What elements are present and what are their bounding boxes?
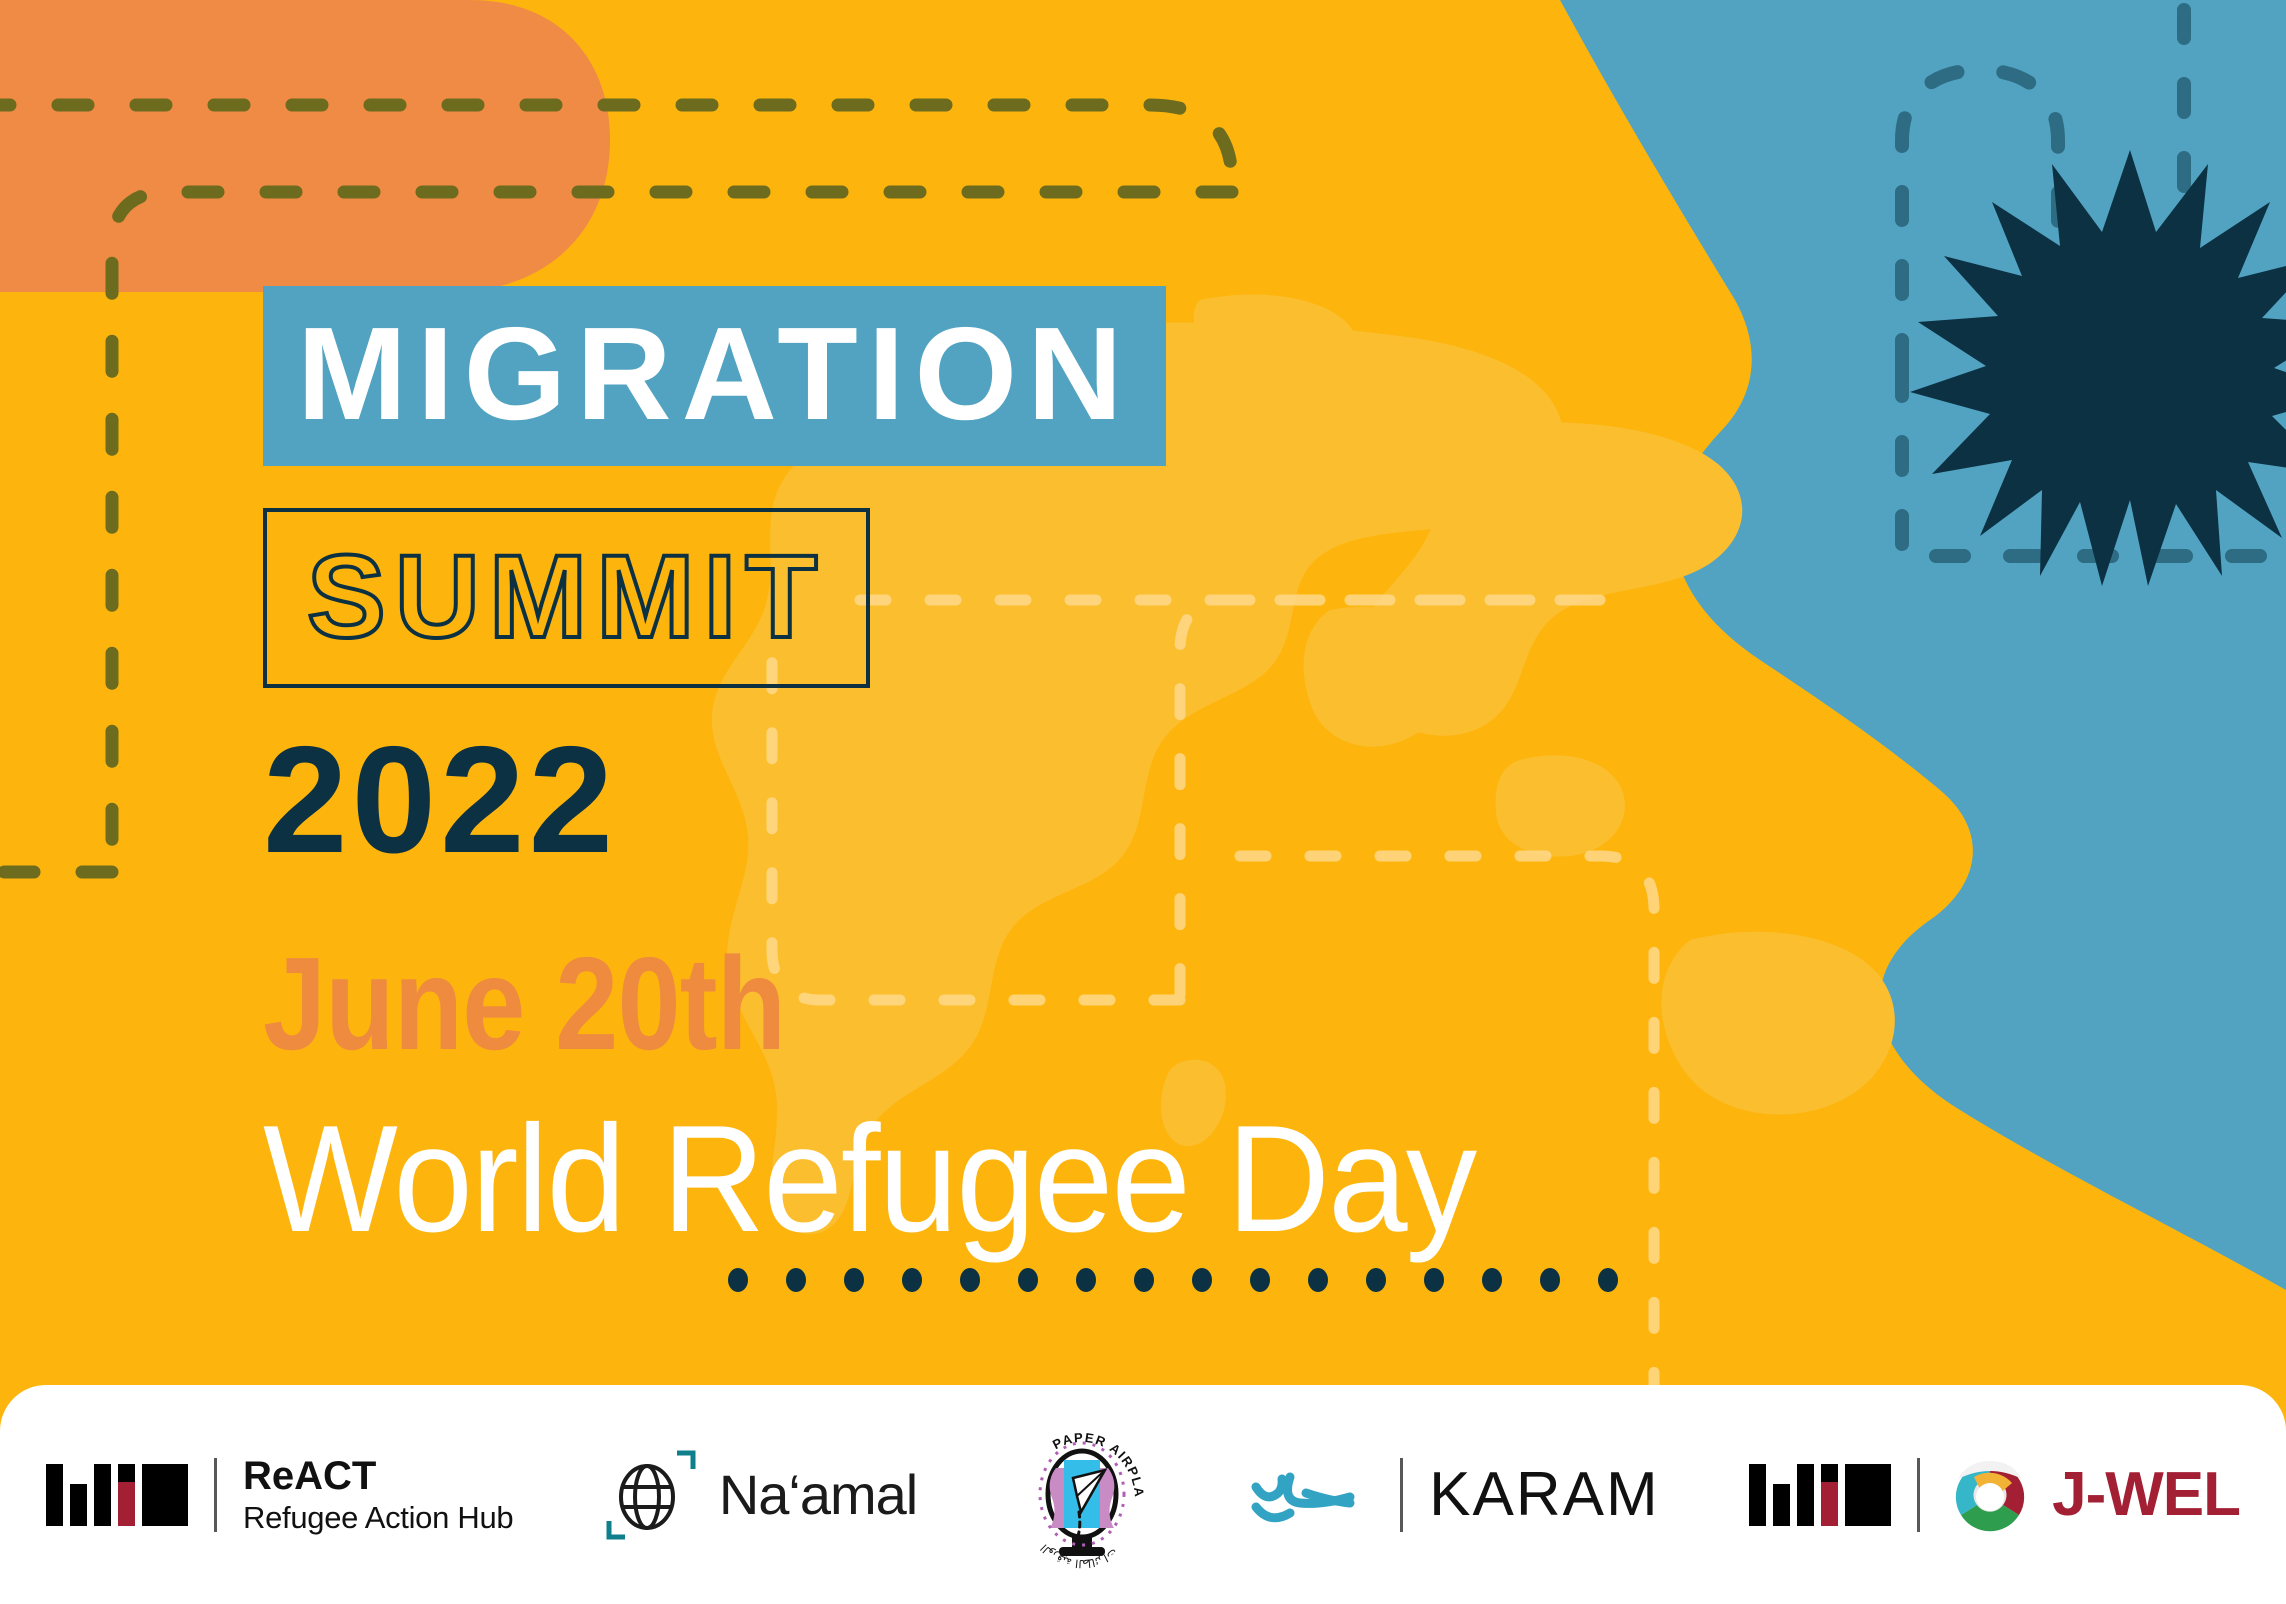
sponsor-logo-row: ReACT Refugee Action Hub (0, 1420, 2286, 1570)
rule-dot (1018, 1268, 1038, 1292)
rule-dot (1540, 1268, 1560, 1292)
rule-dot (1134, 1268, 1154, 1292)
jwel-ring-icon (1946, 1451, 2034, 1539)
logo-paper-airplanes[interactable]: PAPER AIRPLANES الورقية الطائرات (1007, 1420, 1157, 1570)
rule-dot (1482, 1268, 1502, 1292)
logo-divider (214, 1458, 217, 1532)
logo-react-name: ReACT (243, 1454, 513, 1498)
headline-line-summit: SUMMIT (307, 538, 826, 656)
dot-rule (728, 1268, 1618, 1292)
karam-arabic-icon (1246, 1463, 1374, 1527)
logo-divider (1400, 1458, 1403, 1532)
rule-dot (1250, 1268, 1270, 1292)
rule-dot (786, 1268, 806, 1292)
headline-line-migration: MIGRATION (297, 308, 1132, 440)
teal-region (1560, 0, 2286, 1290)
logo-naamal[interactable]: Na‘amal (603, 1447, 917, 1543)
rule-dot (728, 1268, 748, 1292)
orange-blob-topleft (0, 0, 610, 292)
logo-divider (1917, 1458, 1920, 1532)
paper-airplanes-globe-icon: PAPER AIRPLANES الورقية الطائرات (1007, 1420, 1157, 1570)
rule-dot (1366, 1268, 1386, 1292)
rule-dot (1424, 1268, 1444, 1292)
logo-mit-react[interactable]: ReACT Refugee Action Hub (46, 1454, 513, 1535)
rule-dot (960, 1268, 980, 1292)
logo-karam[interactable]: KARAM (1246, 1458, 1659, 1532)
mit-wordmark-icon (1749, 1464, 1891, 1526)
teal-dashed-decor (1902, 10, 2286, 560)
rule-dot (902, 1268, 922, 1292)
sponsor-logo-bar: ReACT Refugee Action Hub (0, 1385, 2286, 1604)
logo-react-tagline: Refugee Action Hub (243, 1501, 513, 1535)
rule-dot (1076, 1268, 1096, 1292)
migration-banner: MIGRATION (263, 286, 1166, 466)
event-occasion: World Refugee Day (263, 1100, 1485, 1260)
logo-naamal-name: Na‘amal (719, 1462, 917, 1527)
starburst-icon (1910, 150, 2286, 586)
rule-dot (844, 1268, 864, 1292)
headline-block: MIGRATION SUMMIT 2022 June 20th World Re… (263, 286, 1563, 1260)
headline-year: 2022 (263, 724, 1563, 876)
rule-dot (1308, 1268, 1328, 1292)
rule-dot (1192, 1268, 1212, 1292)
logo-mit-jwel[interactable]: J-WEL (1749, 1451, 2240, 1539)
logo-jwel-name: J-WEL (2052, 1459, 2240, 1530)
mit-wordmark-icon (46, 1464, 188, 1526)
rule-dot (1598, 1268, 1618, 1292)
summit-outline-box: SUMMIT (263, 508, 870, 688)
poster-canvas: MIGRATION SUMMIT 2022 June 20th World Re… (0, 0, 2286, 1604)
event-date: June 20th (263, 938, 1381, 1070)
globe-bracket-icon (603, 1447, 699, 1543)
logo-karam-name: KARAM (1429, 1459, 1659, 1530)
